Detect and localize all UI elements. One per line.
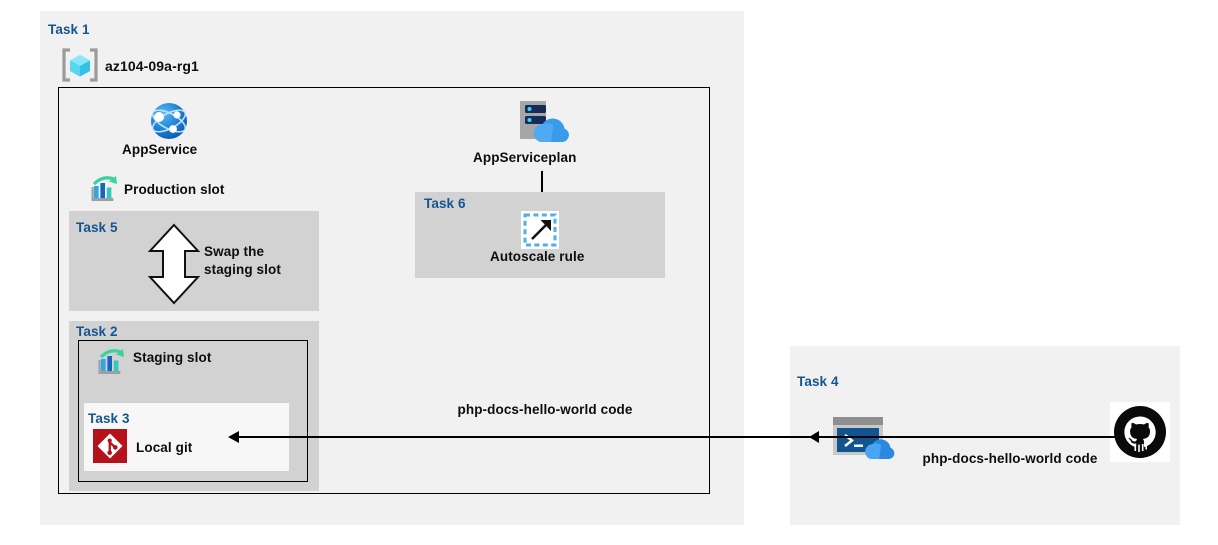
app-service-label: AppService <box>122 142 197 157</box>
local-git-label: Local git <box>136 440 192 455</box>
task6-label: Task 6 <box>424 196 466 211</box>
autoscale-icon <box>521 211 559 249</box>
deployment-slot-icon-production <box>88 174 120 204</box>
app-service-plan-icon <box>511 98 569 146</box>
diagram-canvas: Task 1 az104-09a-rg1 <box>0 0 1218 545</box>
arrow-shell-to-localgit-line <box>237 436 822 438</box>
swap-label: Swap the staging slot <box>204 243 314 279</box>
resource-group-cube-icon <box>60 48 100 82</box>
center-code-label: php-docs-hello-world code <box>455 401 635 419</box>
arrow-github-to-shell-line <box>816 436 1116 438</box>
resource-group-label: az104-09a-rg1 <box>105 58 199 74</box>
task4-label: Task 4 <box>797 374 839 389</box>
right-code-label: php-docs-hello-world code <box>920 450 1100 468</box>
app-service-plan-label: AppServiceplan <box>473 150 576 165</box>
production-slot-label: Production slot <box>124 182 225 197</box>
task5-label: Task 5 <box>76 220 118 235</box>
staging-slot-label: Staging slot <box>133 350 211 365</box>
github-octocat-icon <box>1110 402 1170 462</box>
task2-label: Task 2 <box>76 324 118 339</box>
task3-label: Task 3 <box>88 411 130 426</box>
task1-label: Task 1 <box>48 22 90 37</box>
autoscale-rule-label: Autoscale rule <box>490 249 584 264</box>
cloud-shell-icon <box>831 415 901 463</box>
deployment-slot-icon-staging <box>95 347 127 377</box>
git-icon <box>93 429 127 463</box>
double-arrow-updown-icon <box>145 223 203 305</box>
arrow-shell-to-localgit-head <box>228 431 239 443</box>
app-service-globe-icon <box>147 101 191 141</box>
